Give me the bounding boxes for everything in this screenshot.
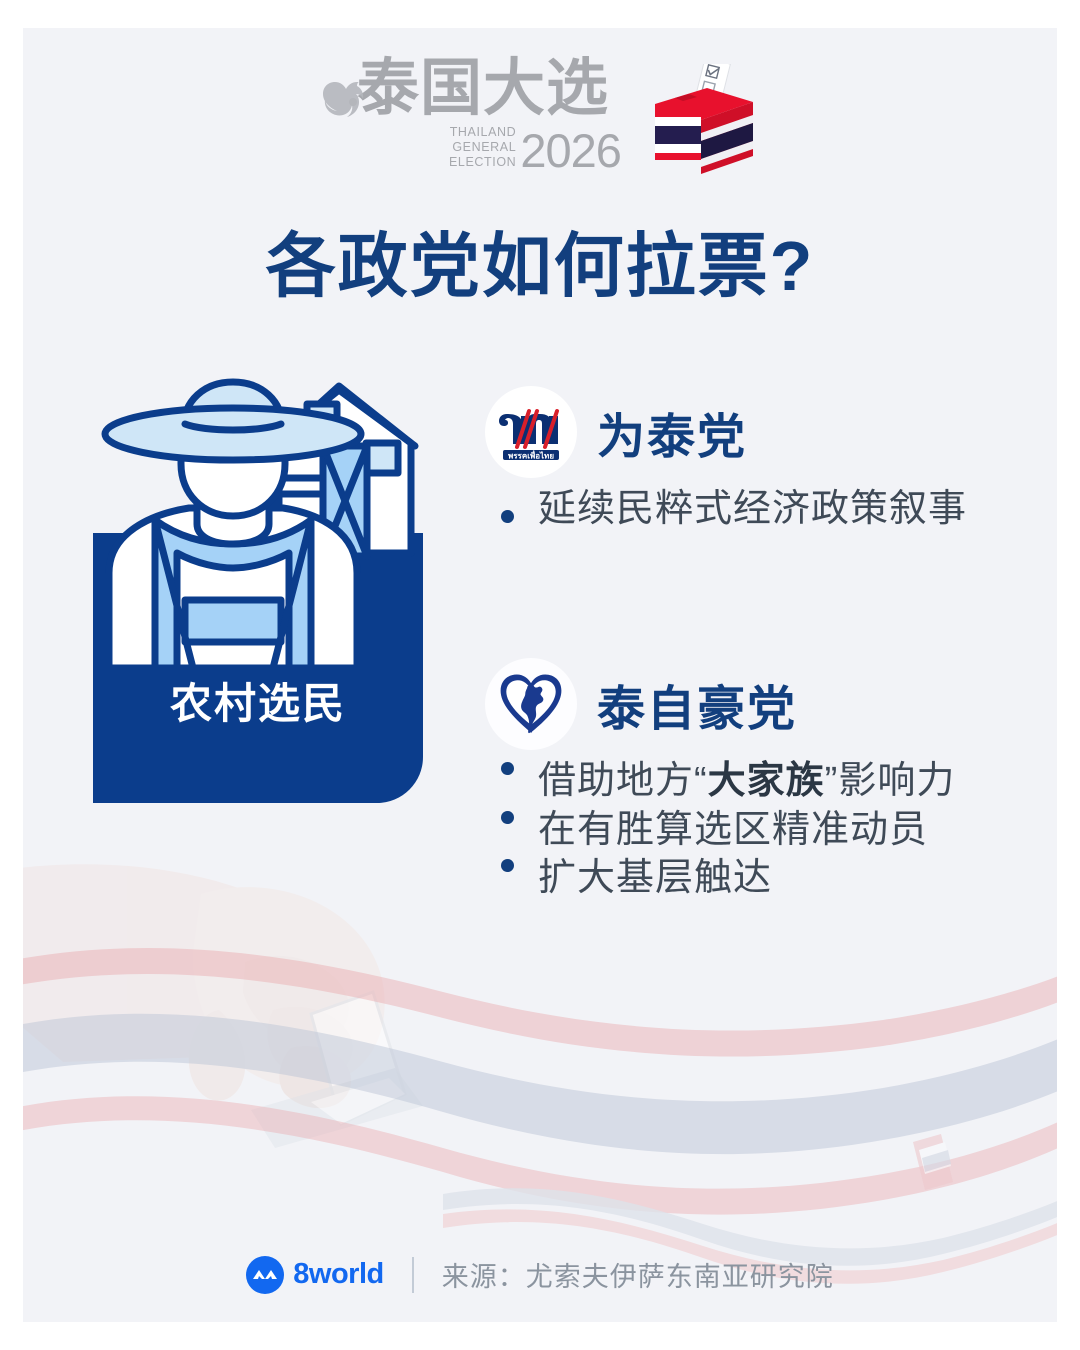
logo-text-block: 泰国大选 THAILAND GENERAL ELECTION 2026: [323, 58, 623, 171]
bhumjaithai-party-logo: [485, 658, 577, 750]
voter-card-label: 农村选民: [93, 670, 423, 731]
footer-divider: [412, 1257, 414, 1293]
list-item: 延续民粹式经济政策叙事: [485, 488, 1045, 531]
footer: 8world 来源：尤索夫伊萨东南亚研究院: [23, 1255, 1057, 1294]
8world-logo-icon: [246, 1256, 284, 1294]
bullet-text: 借助地方“大家族”影响力: [538, 760, 955, 803]
bullet-text-pre: 借助地方“: [538, 760, 708, 802]
party-name: 泰自豪党: [597, 669, 797, 739]
voter-segment-card: 农村选民: [93, 368, 423, 803]
thai-flag-ballot-box-icon: [641, 64, 763, 184]
party-block-pheu-thai: พรรคเพื่อไทย 为泰党 延续民粹式经济政策叙事: [485, 384, 1045, 533]
source-credit: 来源：尤索夫伊萨东南亚研究院: [442, 1255, 834, 1294]
bottom-decorative-artwork: [23, 842, 1057, 1322]
bullet-dot-icon: [501, 762, 514, 775]
logo-chinese-title: 泰国大选: [323, 58, 623, 120]
logo-en-line-1: THAILAND: [449, 125, 516, 140]
bullet-dot-icon: [501, 510, 514, 523]
infographic-poster: 泰国大选 THAILAND GENERAL ELECTION 2026: [23, 28, 1057, 1322]
party-bullet-list: 延续民粹式经济政策叙事: [485, 488, 1045, 531]
election-logo: 泰国大选 THAILAND GENERAL ELECTION 2026: [323, 58, 763, 184]
list-item: 扩大基层触达: [485, 857, 1045, 900]
bullet-text: 在有胜算选区精准动员: [538, 809, 928, 852]
bullet-dot-icon: [501, 859, 514, 872]
list-item: 借助地方“大家族”影响力: [485, 760, 1045, 803]
logo-english-title: THAILAND GENERAL ELECTION: [449, 125, 516, 169]
party-header: พรรคเพื่อไทย 为泰党: [485, 384, 1045, 480]
pheu-thai-party-logo: พรรคเพื่อไทย: [485, 386, 577, 478]
logo-subtitle-row: THAILAND GENERAL ELECTION 2026: [323, 125, 623, 171]
party-bullet-list: 借助地方“大家族”影响力 在有胜算选区精准动员 扩大基层触达: [485, 760, 1045, 900]
logo-en-line-2: GENERAL: [449, 140, 516, 155]
hand-casting-ballot-photo: [23, 864, 385, 1108]
list-item: 在有胜算选区精准动员: [485, 809, 1045, 852]
party-block-bhumjaithai: 泰自豪党 借助地方“大家族”影响力 在有胜算选区精准动员 扩大基层触达: [485, 656, 1045, 906]
logo-year: 2026: [520, 131, 621, 171]
header: 泰国大选 THAILAND GENERAL ELECTION 2026: [23, 28, 1057, 188]
svg-text:พรรคเพื่อไทย: พรรคเพื่อไทย: [508, 450, 554, 461]
bullet-text: 延续民粹式经济政策叙事: [538, 488, 967, 531]
bullet-text-post: ”影响力: [825, 760, 956, 802]
thai-ornament-icon: [319, 76, 365, 120]
party-header: 泰自豪党: [485, 656, 1045, 752]
bullet-dot-icon: [501, 811, 514, 824]
logo-en-line-3: ELECTION: [449, 155, 516, 170]
brand-8world[interactable]: 8world: [246, 1256, 383, 1294]
party-name: 为泰党: [597, 397, 747, 467]
brand-name: 8world: [293, 1258, 383, 1291]
farmer-and-barn-illustration: [93, 368, 423, 668]
bullet-text-emphasis: 大家族: [708, 760, 825, 802]
bullet-text: 扩大基层触达: [538, 857, 772, 900]
page-title: 各政党如何拉票?: [23, 210, 1057, 311]
